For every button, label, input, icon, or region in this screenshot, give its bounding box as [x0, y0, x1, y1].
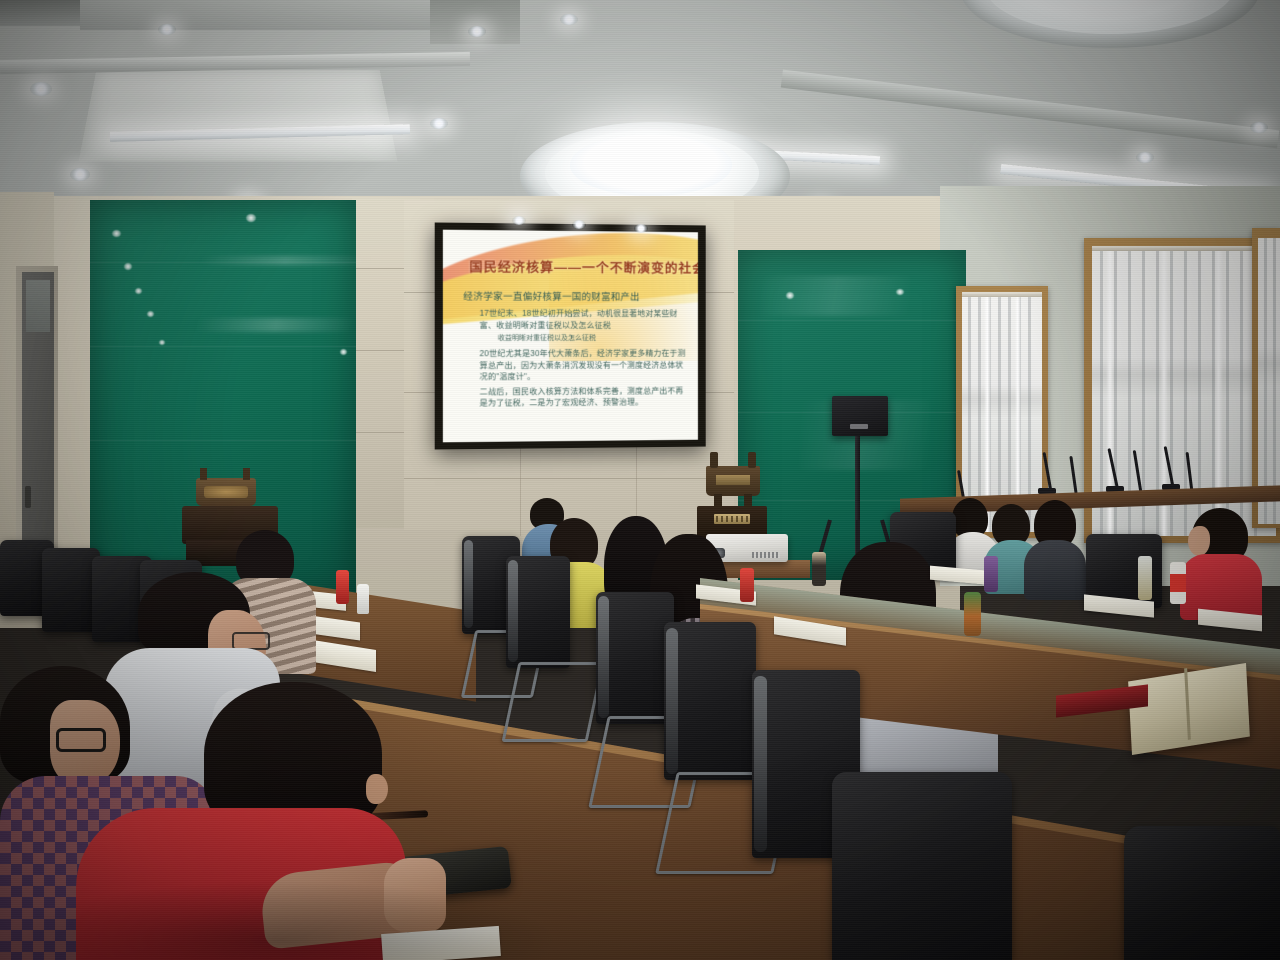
downlight-7 [430, 118, 448, 129]
attendee-red-top-right-face [1188, 526, 1210, 556]
wall-specular-7 [246, 214, 256, 222]
green-seam-l2 [90, 346, 356, 347]
chair-center-1-highlight [464, 540, 473, 628]
bottle-red-left [336, 570, 349, 604]
bottle-clear-right [1138, 556, 1152, 600]
green-seam-r1 [738, 320, 966, 321]
green-gloss-left-2 [196, 318, 356, 332]
window-blind-rail-1 [962, 292, 1042, 297]
bottle-white-left [357, 584, 369, 614]
screen-wall-light-2 [572, 220, 586, 229]
slide-body: 经济学家一直偏好核算一国的财富和产出 17世纪末、18世纪初开始尝试，动机很显著… [457, 288, 688, 412]
chair-center-2-frame[interactable] [501, 662, 604, 742]
attendee-dark-top-torso [1024, 540, 1086, 600]
green-seam-l3 [90, 440, 356, 441]
thermos-dark-center [812, 552, 826, 586]
green-gloss-left-1 [200, 256, 370, 265]
ceiling-beam-top [430, 0, 520, 44]
attendee-red-shirt-ear [366, 774, 388, 804]
ding-plaque-text [716, 516, 748, 522]
downlight-1 [30, 82, 52, 96]
ding-leg-left [714, 494, 722, 508]
downlight-11 [1250, 122, 1268, 133]
foreground-shadow [0, 880, 560, 960]
green-gloss-right-1 [760, 276, 910, 316]
window-blind-rail-2 [1092, 246, 1276, 251]
speaker-box [832, 396, 888, 436]
chair-center-5-highlight [754, 676, 767, 852]
slide-bullet-1-1: 17世纪末、18世纪初开始尝试，动机很显著地对某些财富、收益明晰对重征税以及怎么… [480, 308, 689, 331]
ding-handle-right [748, 452, 756, 468]
wall-specular-1 [112, 230, 121, 237]
attendee-red-top-right [1176, 508, 1262, 618]
wall-specular-5 [159, 340, 165, 345]
bottle-red-center [740, 568, 754, 602]
wall-specular-4 [147, 311, 154, 317]
thermos-purple [984, 556, 998, 592]
slide-title: 国民经济核算——一个不断演变的社会建构 [469, 256, 686, 276]
downlight-5 [468, 26, 486, 37]
ceiling-lamp-center [570, 134, 732, 196]
window-blinds-3 [1258, 238, 1280, 524]
door-handle[interactable] [25, 486, 31, 508]
wall-specular-6 [340, 349, 347, 355]
ornament-left-handle-b [243, 468, 250, 480]
slide-bullet-1: 经济学家一直偏好核算一国的财富和产出 [463, 289, 688, 304]
downlight-6 [560, 14, 578, 25]
projector-vent [752, 552, 780, 558]
wall-specular-9 [896, 289, 904, 295]
attendee-dark-top [1024, 500, 1086, 598]
ceiling-band-upper [80, 0, 460, 30]
slide-bullet-1-3: 二战后，国民收入核算方法和体系完善，测度总产出不再是为了征税，二是为了宏观经济、… [480, 385, 689, 409]
slide-bullet-1-1-1: 收益明晰对重征税以及怎么征税 [498, 334, 688, 344]
chair-center-6[interactable] [832, 772, 1012, 960]
wall-specular-2 [124, 263, 132, 270]
chair-center-2-highlight [508, 560, 518, 662]
ceiling-coffer-left [79, 70, 398, 162]
ding-band [716, 475, 750, 485]
slide-bullet-1-2: 20世纪尤其是30年代大萧条后，经济学家更多精力在于测算总产出，因为大萧条消沉发… [480, 348, 689, 383]
ding-handle-left [710, 452, 718, 468]
downlight-2 [70, 168, 90, 181]
screen-wall-light-1 [512, 216, 526, 225]
wall-specular-8 [786, 292, 794, 299]
chair-center-3-highlight [598, 596, 609, 718]
screen-wall-light-3 [634, 224, 648, 233]
conference-room-photo: 国民经济核算——一个不断演变的社会建构 经济学家一直偏好核算一国的财富和产出 1… [0, 0, 1280, 960]
chair-center-4-highlight [666, 628, 678, 774]
chair-right-foreground[interactable] [1124, 826, 1280, 960]
stone-seam-s3 [404, 478, 734, 479]
ding-leg-right [744, 494, 752, 508]
wall-specular-3 [135, 288, 142, 294]
ornament-left-vessel-detail [204, 486, 248, 498]
downlight-10 [1136, 152, 1154, 163]
stone-seam-sv1 [520, 440, 521, 536]
downlight-4 [158, 24, 176, 35]
speaker-brand-label [850, 424, 868, 429]
thermos-green [964, 592, 981, 636]
door-glass-panel [26, 280, 50, 332]
bottle-red-right [1170, 562, 1186, 604]
ornament-left-handle-a [200, 468, 207, 480]
projection-screen[interactable]: 国民经济核算——一个不断演变的社会建构 经济学家一直偏好核算一国的财富和产出 1… [443, 230, 698, 443]
